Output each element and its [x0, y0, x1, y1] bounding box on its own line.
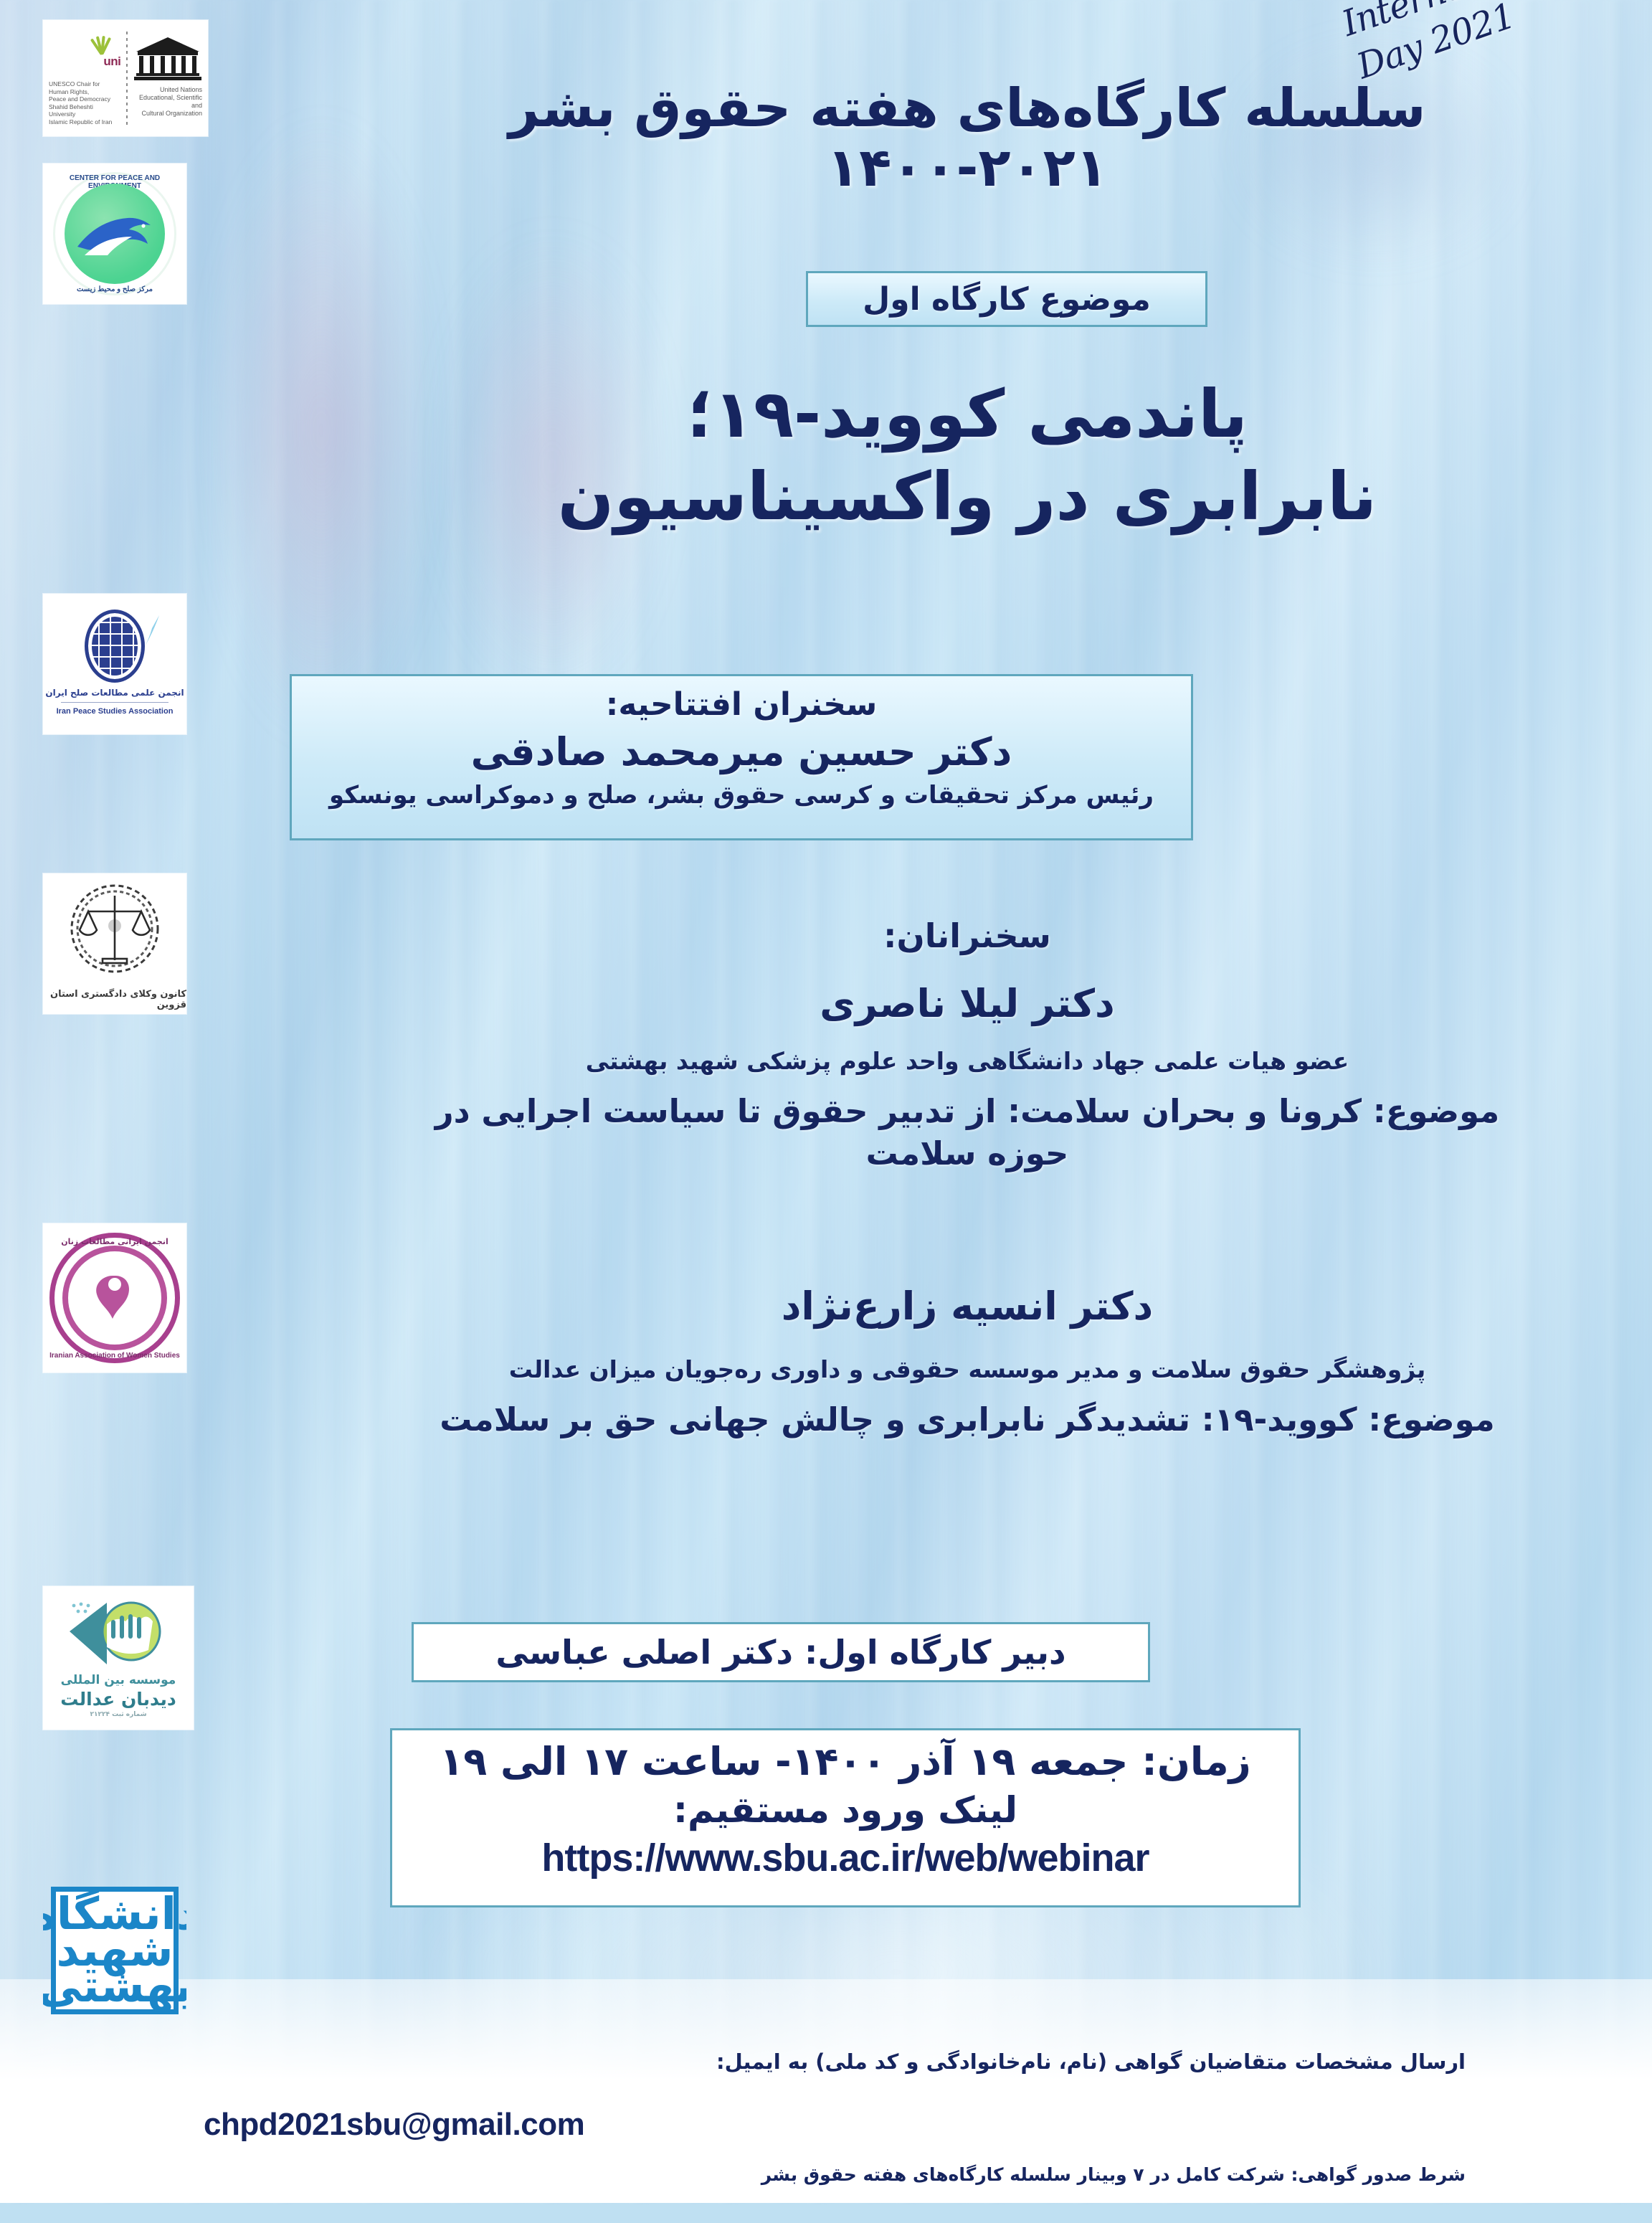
workshop-topic-badge: موضوع کارگاه اول	[806, 271, 1207, 327]
justice-watch-line3: شماره ثبت ۲۱۲۲۴	[90, 1711, 146, 1718]
logo-center-peace-environment: CENTER FOR PEACE AND ENVIRONMENT مرکز صل…	[43, 163, 186, 304]
iran-peace-studies-fa: انجمن علمی مطالعات صلح ایران	[45, 688, 184, 698]
unesco-caption: United NationsEducational, Scientific an…	[133, 86, 202, 118]
series-years-text: ۱۴۰۰-۲۰۲۱	[419, 138, 1516, 198]
women-studies-fa: انجمن ایرانی مطالعات زنان	[49, 1237, 180, 1246]
unesco-chair-wordmark: uni	[103, 54, 120, 69]
iran-peace-studies-en: Iran Peace Studies Association	[57, 707, 174, 716]
international-human-rights-day-banner: International Human Rights Day 2021	[1337, 0, 1652, 90]
logo-qazvin-bar-association: کانون وکلای دادگستری استان قزوین	[43, 873, 186, 1014]
certificate-note: ارسال مشخصات متقاضیان گواهی (نام، نام‌خا…	[347, 2049, 1466, 2074]
speaker-2-affiliation: پژوهشگر حقوق سلامت و مدیر موسسه حقوقی و …	[419, 1355, 1516, 1383]
mother-child-icon	[84, 1270, 146, 1327]
qazvin-bar-fa: کانون وکلای دادگستری استان قزوین	[43, 989, 186, 1010]
peace-environment-seal: CENTER FOR PEACE AND ENVIRONMENT مرکز صل…	[53, 172, 176, 295]
opening-speaker-affiliation: رئیس مرکز تحقیقات و کرسی حقوق بشر، صلح و…	[305, 781, 1178, 810]
schedule-link-label: لینک ورود مستقیم:	[407, 1788, 1284, 1831]
logo-justice-watch: موسسه بین المللی دیدبان عدالت شماره ثبت …	[43, 1586, 194, 1730]
unesco-chair-caption: UNESCO Chair for Human Rights,Peace and …	[49, 80, 120, 125]
unesco-chair-mark: uni	[85, 34, 120, 75]
workshop-title-line1: پاندمی کووید-۱۹؛	[419, 373, 1516, 455]
certificate-condition-note: شرط صدور گواهی: شرکت کامل در ۷ وبینار سل…	[347, 2164, 1466, 2185]
sbu-emblem-text: دانشگاه شهید بهشتی	[43, 1896, 186, 2005]
workshop-title-line2: نابرابری در واکسیناسیون	[419, 455, 1516, 538]
sbu-emblem: دانشگاه شهید بهشتی	[51, 1887, 179, 2014]
workshop-title: پاندمی کووید-۱۹؛ نابرابری در واکسیناسیون	[419, 373, 1516, 538]
workshop-secretary-box: دبیر کارگاه اول: دکتر اصلی عباسی	[412, 1622, 1150, 1682]
sponsor-logo-rail: United NationsEducational, Scientific an…	[0, 0, 215, 2203]
poster-content: International Human Rights Day 2021 سلسل…	[218, 0, 1652, 2203]
dove-icon	[65, 184, 165, 284]
justice-watch-line2: دیدبان عدالت	[60, 1690, 176, 1708]
schedule-time: زمان: جمعه ۱۹ آذر ۱۴۰۰- ساعت ۱۷ الی ۱۹	[407, 1739, 1284, 1786]
speaker-1-name: دکتر لیلا ناصری	[419, 981, 1516, 1026]
hands-globe-icon	[65, 1598, 171, 1670]
logo-iranian-women-studies: انجمن ایرانی مطالعات زنان Iranian Associ…	[43, 1223, 186, 1373]
logo-unesco-chair: United NationsEducational, Scientific an…	[43, 20, 208, 136]
speaker-1-topic: موضوع: کرونا و بحران سلامت: از تدبیر حقو…	[419, 1090, 1516, 1175]
justice-watch-line1: موسسه بین المللی	[61, 1673, 176, 1687]
speaker-1-affiliation: عضو هیات علمی جهاد دانشگاهی واحد علوم پز…	[419, 1047, 1516, 1075]
logo-shahid-beheshti-university: دانشگاه شهید بهشتی	[43, 1879, 186, 2022]
webinar-link[interactable]: https://www.sbu.ac.ir/web/webinar	[407, 1836, 1284, 1880]
women-studies-en: Iranian Association of Women Studies	[49, 1352, 180, 1360]
schedule-box: زمان: جمعه ۱۹ آذر ۱۴۰۰- ساعت ۱۷ الی ۱۹ ل…	[390, 1728, 1301, 1907]
divider-dotted	[126, 32, 128, 125]
contact-email[interactable]: chpd2021sbu@gmail.com	[204, 2107, 706, 2143]
women-studies-seal: انجمن ایرانی مطالعات زنان Iranian Associ…	[49, 1233, 180, 1363]
peace-environment-fa-text: مرکز صلح و محیط زیست	[53, 285, 176, 293]
scales-wreath-icon	[61, 877, 168, 985]
speakers-label: سخنرانان:	[419, 916, 1516, 955]
opening-speaker-name: دکتر حسین میرمحمد صادقی	[305, 727, 1178, 777]
globe-icon	[88, 613, 141, 679]
logo-iran-peace-studies: انجمن علمی مطالعات صلح ایران Iran Peace …	[43, 594, 186, 734]
speaker-2-topic: موضوع: کووید-۱۹: تشدیدگر نابرابری و چالش…	[419, 1398, 1516, 1441]
opening-speaker-box: سخنران افتتاحیه: دکتر حسین میرمحمد صادقی…	[290, 674, 1193, 840]
series-title: سلسله کارگاه‌های هفته حقوق بشر ۱۴۰۰-۲۰۲۱	[419, 79, 1516, 198]
speaker-2-name: دکتر انسیه زارع‌نژاد	[419, 1284, 1516, 1329]
series-title-text: سلسله کارگاه‌های هفته حقوق بشر	[419, 79, 1516, 138]
unesco-temple-icon	[136, 37, 199, 79]
opening-speaker-label: سخنران افتتاحیه:	[305, 686, 1178, 724]
